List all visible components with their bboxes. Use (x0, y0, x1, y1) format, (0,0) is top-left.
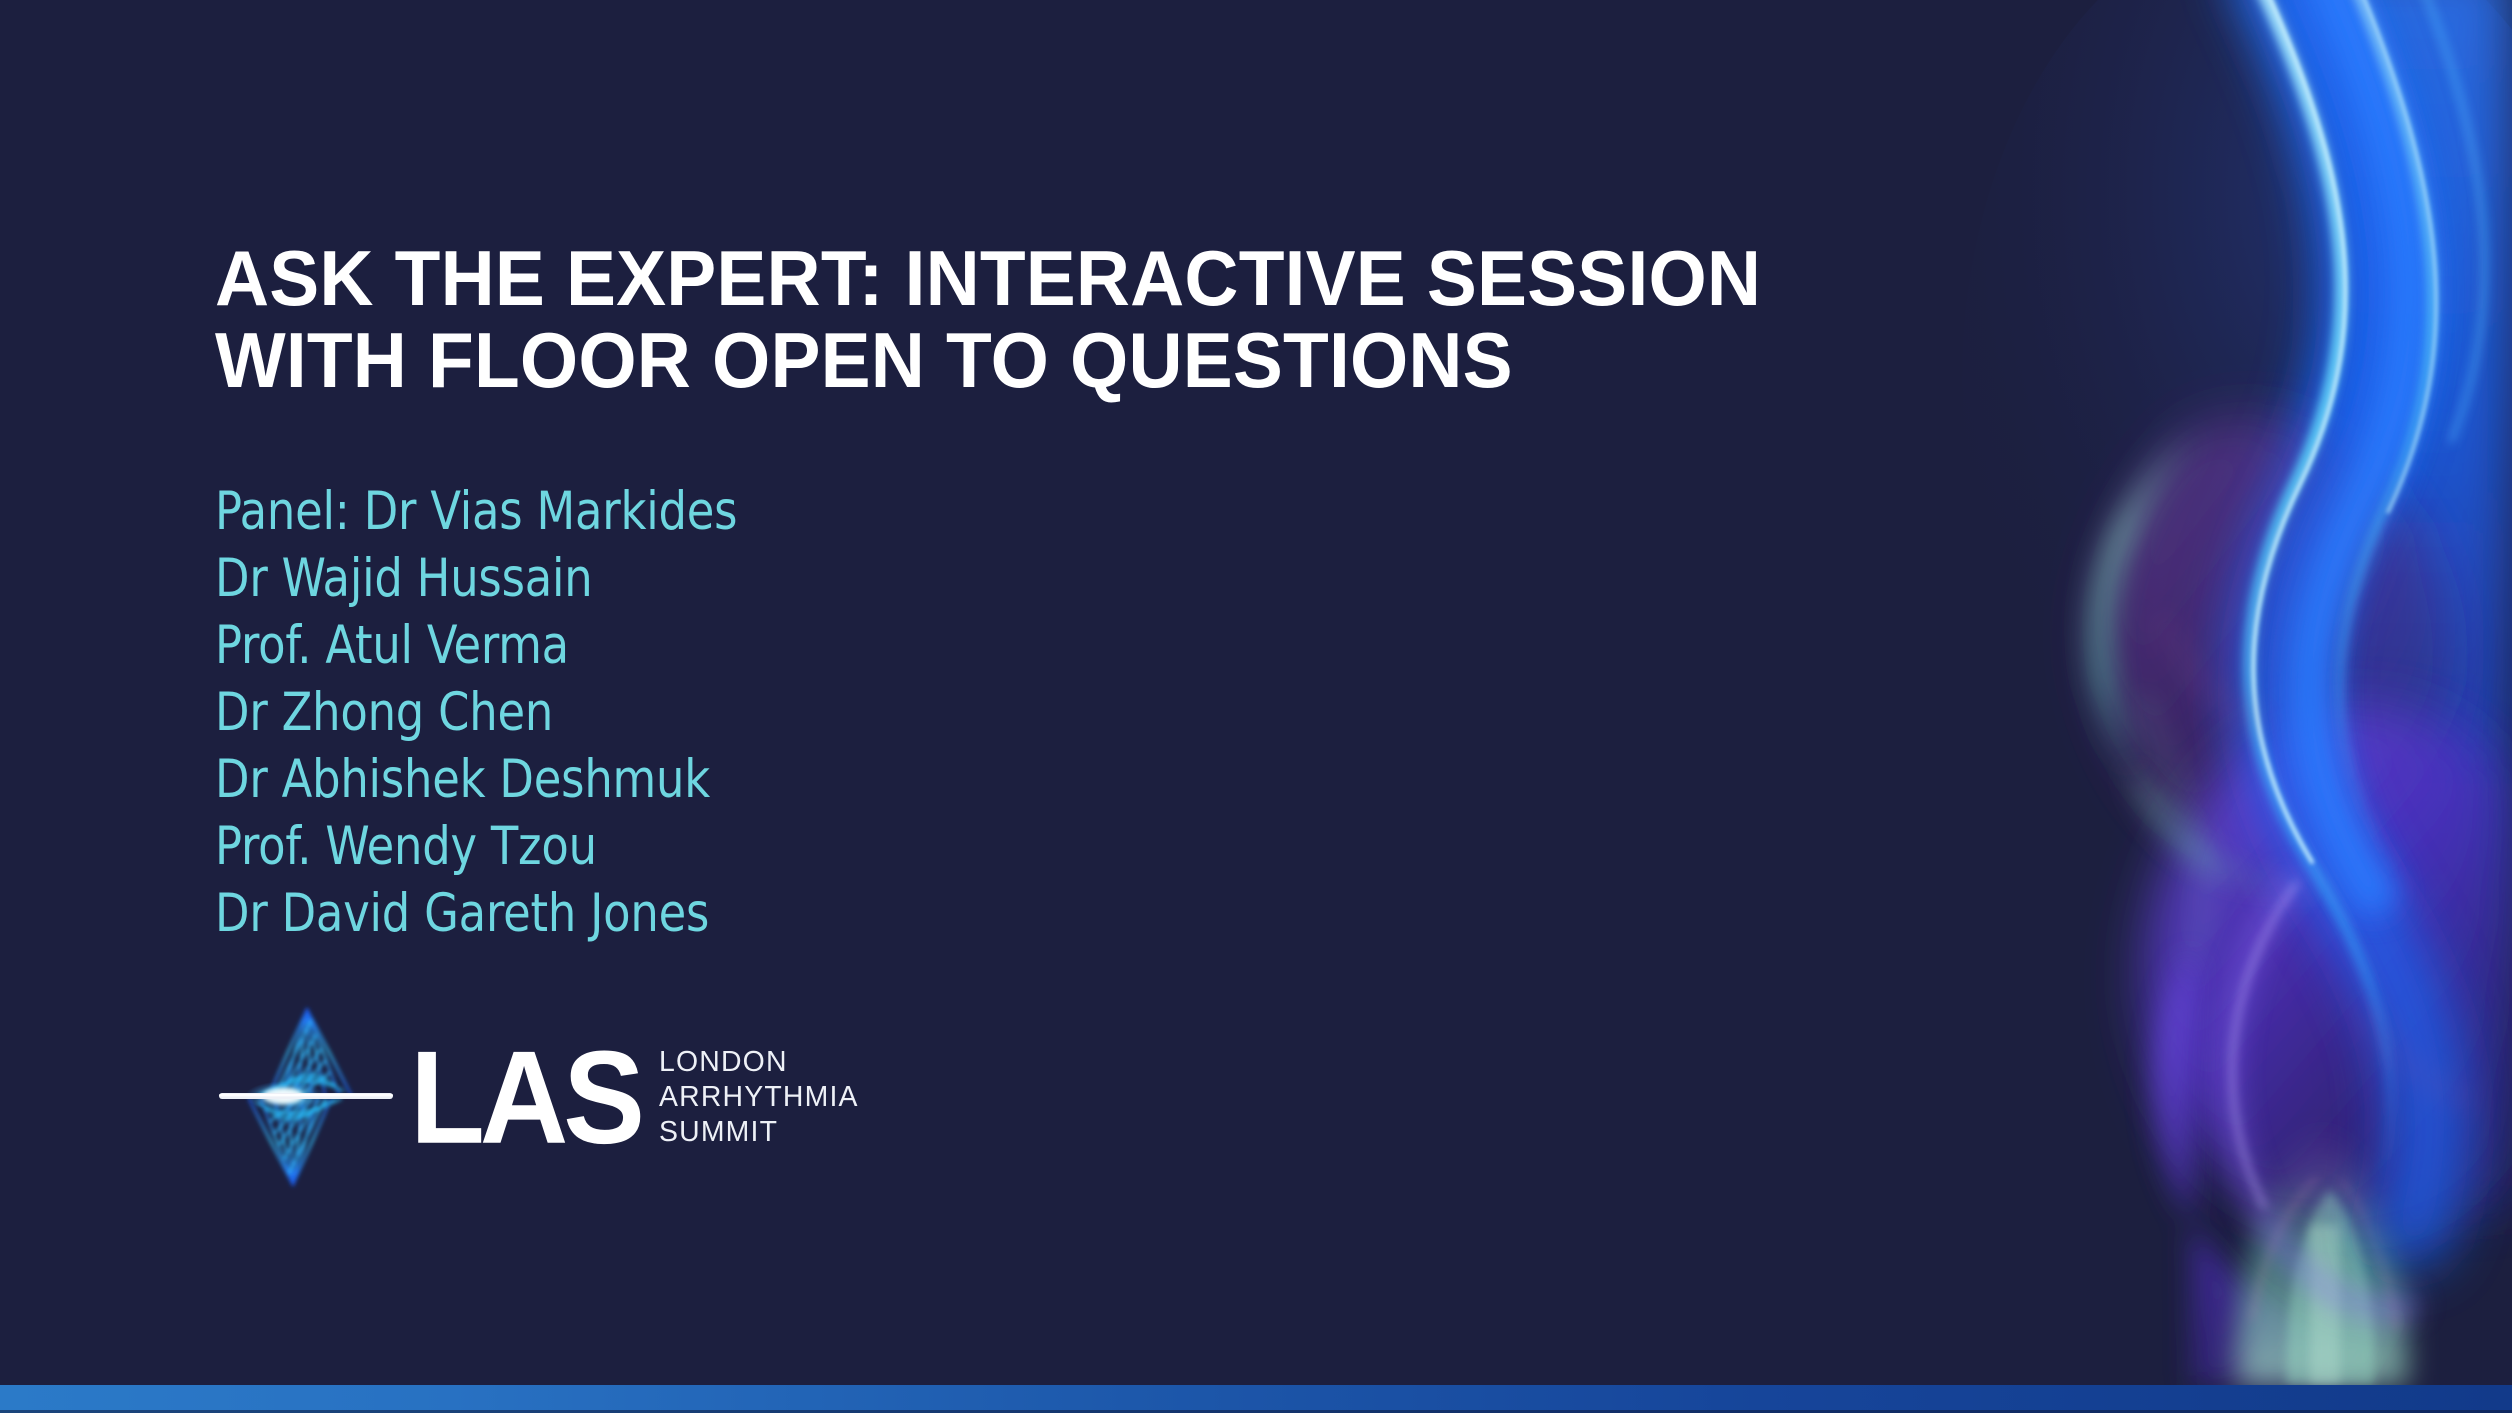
list-item: Dr Abhishek Deshmuk (215, 746, 737, 813)
las-name-line-1: LONDON (659, 1045, 859, 1080)
las-name-line-3: SUMMIT (659, 1115, 859, 1150)
las-full-name: LONDON ARRHYTHMIA SUMMIT (659, 1045, 859, 1150)
arrhythmia-spindle-icon (215, 995, 400, 1195)
list-item: Prof. Atul Verma (215, 612, 737, 679)
list-item: Prof. Wendy Tzou (215, 813, 737, 880)
list-item: Dr Zhong Chen (215, 679, 737, 746)
slide-title: ASK THE EXPERT: INTERACTIVE SESSION WITH… (215, 238, 1962, 402)
list-item: Panel: Dr Vias Markides (215, 478, 737, 545)
las-logo: LAS LONDON ARRHYTHMIA SUMMIT (215, 995, 1005, 1195)
list-item: Dr David Gareth Jones (215, 880, 737, 947)
list-item: Dr Wajid Hussain (215, 545, 737, 612)
las-name-line-2: ARRHYTHMIA (659, 1080, 859, 1115)
panel-member-list: Panel: Dr Vias Markides Dr Wajid Hussain… (215, 478, 771, 947)
las-wordmark: LAS LONDON ARRHYTHMIA SUMMIT (410, 995, 863, 1195)
slide-content: ASK THE EXPERT: INTERACTIVE SESSION WITH… (215, 0, 1995, 1413)
las-acronym: LAS (410, 1032, 640, 1164)
footer-accent-bar (0, 1385, 2512, 1413)
presentation-slide: ASK THE EXPERT: INTERACTIVE SESSION WITH… (0, 0, 2512, 1413)
